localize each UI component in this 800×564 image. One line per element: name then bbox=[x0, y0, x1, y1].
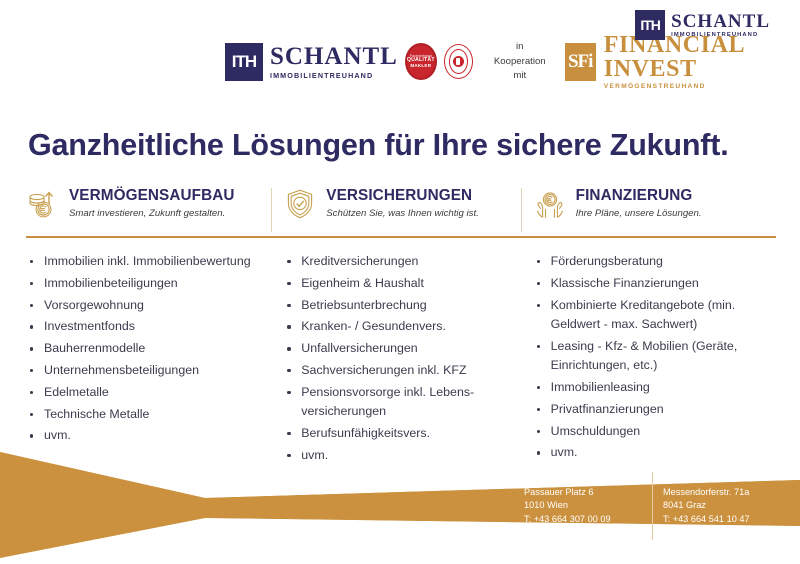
list-item: Technische Metalle bbox=[26, 405, 275, 424]
cooperation-label: in Kooperation mit bbox=[494, 40, 546, 83]
list-item: Sachversicherungen inkl. KFZ bbox=[283, 361, 524, 380]
list-item: Privatfinanzierungen bbox=[533, 400, 774, 419]
list-item: Klassische Finanzierungen bbox=[533, 274, 774, 293]
service-lists: Immobilien inkl. ImmobilienbewertungImmo… bbox=[26, 252, 774, 468]
office-street: Passauer Platz 6 bbox=[524, 486, 652, 500]
list-item: Immobilienbeteiligungen bbox=[26, 274, 275, 293]
category-finanzierung: FINANZIERUNG Ihre Pläne, unsere Lösungen… bbox=[525, 186, 774, 232]
office-phone[interactable]: T: +43 664 307 00 09 bbox=[524, 513, 652, 527]
cooperation-line-3: mit bbox=[494, 69, 546, 83]
sfi-monogram-icon: SFi bbox=[565, 43, 596, 81]
schantl-subtitle: IMMOBILIENTREUHAND bbox=[270, 72, 398, 79]
qualitaets-makler-seal-icon: Fachverband QUALITÄT MAKLER bbox=[405, 43, 437, 80]
sfi-subtitle: VERMÖGENSTREUHAND bbox=[604, 84, 800, 91]
category-title: VERMÖGENSAUFBAU bbox=[69, 188, 235, 205]
office-email[interactable]: E: office@sfi-invest.com bbox=[524, 526, 652, 540]
gold-divider bbox=[26, 236, 776, 238]
office-phone[interactable]: T: +43 664 541 10 47 bbox=[663, 513, 795, 527]
schantl-corner-subtitle: IMMOBILIENTREUHAND bbox=[671, 33, 770, 39]
office-wien-block: Office Wien: Passauer Platz 6 1010 Wien … bbox=[524, 472, 652, 540]
cooperation-line-2: Kooperation bbox=[494, 55, 546, 69]
list-item: Unternehmensbeteiligungen bbox=[26, 361, 275, 380]
office-label: Office Graz: bbox=[663, 472, 795, 486]
list-item: Kreditversicherungen bbox=[283, 252, 524, 271]
list-item: Unfallversicherungen bbox=[283, 339, 524, 358]
list-item: Eigenheim & Haushalt bbox=[283, 274, 524, 293]
service-list: KreditversicherungenEigenheim & Haushalt… bbox=[283, 252, 524, 465]
category-subtitle: Schützen Sie, was Ihnen wichtig ist. bbox=[326, 208, 479, 220]
list-item: Immobilienleasing bbox=[533, 378, 774, 397]
category-subtitle: Ihre Pläne, unsere Lösungen. bbox=[576, 208, 702, 220]
service-list: FörderungsberatungKlassische Finanzierun… bbox=[533, 252, 774, 463]
category-header-row: VERMÖGENSAUFBAU Smart investieren, Zukun… bbox=[26, 186, 774, 232]
logo-row: ITH SCHANTL IMMOBILIENTREUHAND Fachverba… bbox=[225, 33, 800, 91]
category-subtitle: Smart investieren, Zukunft gestalten. bbox=[69, 208, 235, 220]
category-vermoegensaufbau: VERMÖGENSAUFBAU Smart investieren, Zukun… bbox=[26, 186, 275, 232]
ith-monogram-icon: ITH bbox=[225, 43, 263, 81]
sfi-wordmark: FINANCIAL INVEST VERMÖGENSTREUHAND bbox=[604, 33, 800, 91]
brochure-page: ITH SCHANTL IMMOBILIENTREUHAND Fachverba… bbox=[0, 0, 800, 564]
schantl-wordmark: SCHANTL IMMOBILIENTREUHAND bbox=[270, 44, 398, 79]
schantl-logo-primary: ITH SCHANTL IMMOBILIENTREUHAND bbox=[225, 43, 398, 81]
footer-contacts: Office Wien: Passauer Platz 6 1010 Wien … bbox=[524, 472, 795, 540]
wirtschaftskammer-seal-icon bbox=[444, 44, 473, 79]
list-finanzierung: FörderungsberatungKlassische Finanzierun… bbox=[525, 252, 774, 468]
list-item: Förderungsberatung bbox=[533, 252, 774, 271]
list-item: Investmentfonds bbox=[26, 317, 275, 336]
sfi-financial-invest-logo: SFi FINANCIAL INVEST VERMÖGENSTREUHAND bbox=[565, 33, 800, 91]
sfi-name: FINANCIAL INVEST bbox=[604, 33, 800, 81]
office-label: Office Wien: bbox=[524, 472, 652, 486]
category-versicherungen: VERSICHERUNGEN Schützen Sie, was Ihnen w… bbox=[275, 186, 524, 232]
schantl-corner-name: SCHANTL bbox=[671, 12, 770, 31]
list-item: Immobilien inkl. Immobilienbewertung bbox=[26, 252, 275, 271]
list-item: Bauherrenmodelle bbox=[26, 339, 275, 358]
cooperation-line-1: in bbox=[494, 40, 546, 54]
list-versicherungen: KreditversicherungenEigenheim & Haushalt… bbox=[275, 252, 524, 468]
shield-check-icon bbox=[283, 187, 317, 221]
header-logo-bar: ITH SCHANTL IMMOBILIENTREUHAND Fachverba… bbox=[0, 0, 800, 110]
list-item: Kranken- / Gesundenvers. bbox=[283, 317, 524, 336]
category-title: VERSICHERUNGEN bbox=[326, 188, 479, 205]
list-item: Kombinierte Kreditangebote (min. Geldwer… bbox=[533, 296, 774, 335]
list-item: Pensionsvorsorge inkl. Lebens-versicheru… bbox=[283, 383, 524, 422]
category-title: FINANZIERUNG bbox=[576, 188, 702, 205]
list-item: Vorsorgewohnung bbox=[26, 296, 275, 315]
office-city: 8041 Graz bbox=[663, 499, 795, 513]
service-list: Immobilien inkl. ImmobilienbewertungImmo… bbox=[26, 252, 275, 446]
schantl-logo-corner: ITH SCHANTL IMMOBILIENTREUHAND bbox=[635, 10, 770, 40]
schantl-name: SCHANTL bbox=[270, 44, 398, 69]
seal-line-3: MAKLER bbox=[410, 64, 431, 69]
list-item: Edelmetalle bbox=[26, 383, 275, 402]
office-city: 1010 Wien bbox=[524, 499, 652, 513]
list-item: Betriebsunterbrechung bbox=[283, 296, 524, 315]
list-vermoegensaufbau: Immobilien inkl. ImmobilienbewertungImmo… bbox=[26, 252, 275, 468]
list-item: Leasing - Kfz- & Mobilien (Geräte, Einri… bbox=[533, 337, 774, 376]
page-headline: Ganzheitliche Lösungen für Ihre sichere … bbox=[28, 128, 728, 163]
office-street: Messendorferstr. 71a bbox=[663, 486, 795, 500]
list-item: Umschuldungen bbox=[533, 422, 774, 441]
coin-stack-euro-arrow-up-icon bbox=[26, 187, 60, 221]
office-email[interactable]: E: office@schantl-ith.at bbox=[663, 526, 795, 540]
hands-holding-euro-coin-icon bbox=[533, 187, 567, 221]
office-graz-block: Office Graz: Messendorferstr. 71a 8041 G… bbox=[652, 472, 795, 540]
schantl-corner-wordmark: SCHANTL IMMOBILIENTREUHAND bbox=[671, 12, 770, 39]
ith-monogram-corner-icon: ITH bbox=[635, 10, 665, 40]
